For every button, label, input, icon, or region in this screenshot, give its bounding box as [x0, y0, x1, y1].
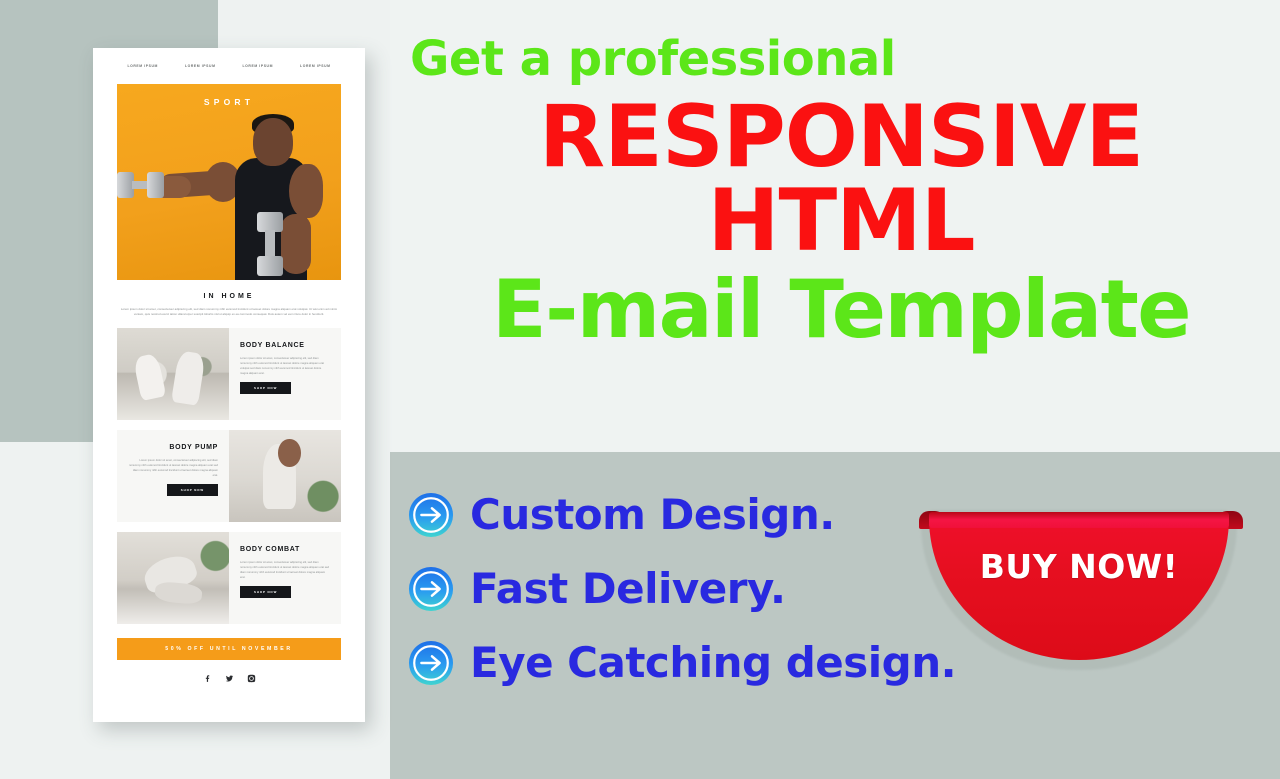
athlete-shoulder-right	[289, 164, 323, 218]
circle-arrow-right-icon	[408, 492, 454, 538]
section-image-body-balance	[117, 328, 229, 420]
section-text-body-balance: BODY BALANCE Lorem ipsum dolor sit amet,…	[229, 328, 341, 420]
buy-now-badge[interactable]: BUY NOW!	[913, 500, 1245, 675]
section-body-combat: BODY COMBAT Lorem ipsum dolor sit amet, …	[117, 532, 341, 624]
feature-label: Fast Delivery.	[470, 568, 785, 610]
buy-now-label: BUY NOW!	[980, 550, 1178, 583]
nav-link-3[interactable]: LOREM IPSUM	[243, 64, 274, 68]
instagram-icon[interactable]	[247, 674, 256, 683]
section-body: Lorem ipsum dolor sit amet, consectetuer…	[128, 458, 218, 478]
feature-label: Eye Catching design.	[470, 642, 956, 684]
badge-top-strip	[929, 512, 1229, 528]
circle-arrow-right-icon	[408, 640, 454, 686]
athlete-lower-arm	[281, 214, 311, 274]
headline-group: Get a professional RESPONSIVE HTML E-mai…	[410, 34, 1272, 352]
headline-line-3: HTML	[410, 178, 1272, 264]
promo-poster: LOREM IPSUM LOREM IPSUM LOREM IPSUM LORE…	[0, 0, 1280, 779]
badge-body[interactable]: BUY NOW!	[929, 518, 1229, 660]
shop-now-button[interactable]: SHOP NOW	[167, 484, 218, 496]
nav-link-2[interactable]: LOREM IPSUM	[185, 64, 216, 68]
section-image-body-combat	[117, 532, 229, 624]
section-title: BODY BALANCE	[240, 342, 330, 351]
section-title: BODY COMBAT	[240, 546, 330, 555]
section-body: Lorem ipsum dolor sit amet, consectetuer…	[240, 356, 330, 376]
section-text-body-combat: BODY COMBAT Lorem ipsum dolor sit amet, …	[229, 532, 341, 624]
headline-line-4: E-mail Template	[410, 268, 1272, 352]
nav-link-1[interactable]: LOREM IPSUM	[127, 64, 158, 68]
section-title: BODY PUMP	[128, 444, 218, 453]
dumbbell-held	[257, 212, 283, 276]
promo-banner[interactable]: 50% OFF UNTIL NOVEMBER	[117, 638, 341, 660]
intro-title: IN HOME	[93, 293, 365, 300]
nav-link-4[interactable]: LOREM IPSUM	[300, 64, 331, 68]
shop-now-button[interactable]: SHOP NOW	[240, 382, 291, 394]
section-body-pump: BODY PUMP Lorem ipsum dolor sit amet, co…	[117, 430, 341, 522]
headline-line-2: RESPONSIVE	[410, 94, 1272, 180]
section-body-balance: BODY BALANCE Lorem ipsum dolor sit amet,…	[117, 328, 341, 420]
feature-label: Custom Design.	[470, 494, 835, 536]
facebook-icon[interactable]	[203, 674, 212, 683]
circle-arrow-right-icon	[408, 566, 454, 612]
section-text-body-pump: BODY PUMP Lorem ipsum dolor sit amet, co…	[117, 430, 229, 522]
email-hero-image: SPORT	[117, 84, 341, 280]
email-template-mockup: LOREM IPSUM LOREM IPSUM LOREM IPSUM LORE…	[93, 48, 365, 722]
twitter-icon[interactable]	[225, 674, 234, 683]
section-image-body-pump	[229, 430, 341, 522]
athlete-head	[253, 118, 293, 166]
email-nav: LOREM IPSUM LOREM IPSUM LOREM IPSUM LORE…	[93, 48, 365, 78]
headline-line-1: Get a professional	[410, 34, 1272, 84]
section-body: Lorem ipsum dolor sit amet, consectetuer…	[240, 560, 330, 580]
intro-body: Lorem ipsum dolor sit amet, consectetuer…	[117, 307, 341, 318]
dumbbell-raised	[117, 172, 165, 198]
email-social-row	[93, 674, 365, 683]
shop-now-button[interactable]: SHOP NOW	[240, 586, 291, 598]
hero-title: SPORT	[117, 97, 341, 107]
